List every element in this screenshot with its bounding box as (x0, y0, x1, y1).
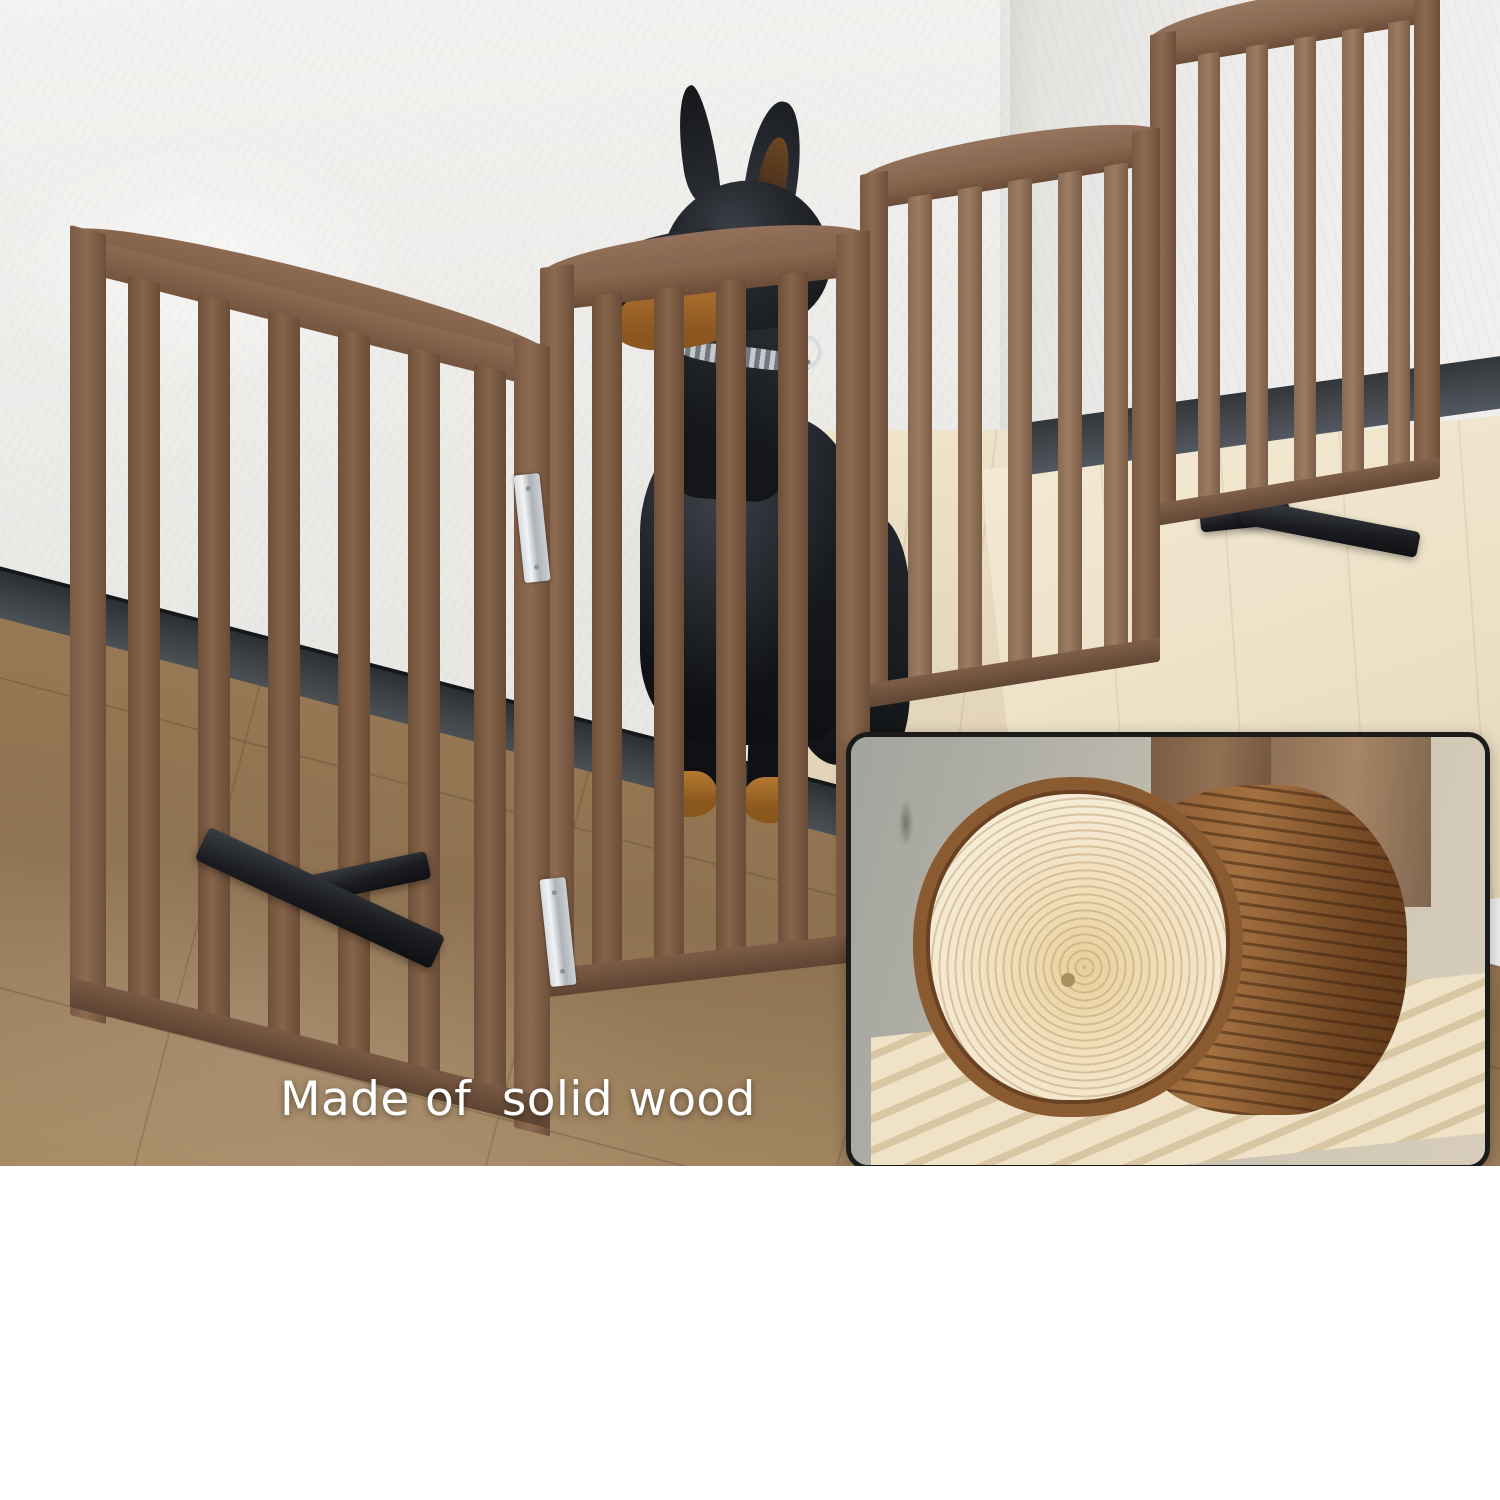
gate-slat (908, 194, 932, 696)
gate-slat (268, 311, 300, 1049)
gate-slat (1294, 35, 1316, 499)
gate-slat (198, 293, 230, 1031)
inset-log-cut-face-rings (913, 777, 1243, 1117)
gate-panel-1-stile-right (514, 337, 550, 1136)
gate-slat (1342, 27, 1364, 491)
gate-panel-1 (70, 235, 550, 1166)
gate-slat (1008, 178, 1032, 680)
solid-wood-inset-photo (846, 732, 1490, 1166)
gate-panel-4-stile-right (1414, 0, 1440, 479)
feature-list: 1. Limit your pet from running around 2.… (0, 1166, 1500, 1500)
gate-slat (778, 271, 808, 956)
gate-slat (1246, 43, 1268, 507)
gate-slat (1104, 163, 1128, 665)
gate-slat (654, 286, 684, 971)
gate-panel-3-stile-right (1132, 127, 1160, 661)
gate-slat (716, 279, 746, 964)
gate-panel-3 (860, 137, 1160, 745)
gate-slat (958, 186, 982, 688)
product-photo: Made of solid wood (0, 0, 1500, 1166)
solid-wood-caption: Made of solid wood (280, 1072, 756, 1127)
gate-panel-2 (540, 242, 870, 1050)
gate-slat (408, 347, 440, 1085)
gate-slat (1198, 51, 1220, 515)
inset-log-pith-center (1061, 973, 1075, 987)
gate-panel-4 (1150, 0, 1440, 565)
gate-panel-2-bottom-rail (540, 932, 870, 998)
gate-panel-1-stile-left (70, 225, 106, 1024)
gate-slat (592, 293, 622, 978)
gate-slat (1388, 19, 1410, 483)
product-image-page: Made of solid wood 1. Limit your pet fro… (0, 0, 1500, 1500)
gate-slat (474, 363, 506, 1101)
gate-slat (338, 329, 370, 1067)
gate-slat (128, 276, 160, 1014)
gate-slat (1058, 170, 1082, 672)
